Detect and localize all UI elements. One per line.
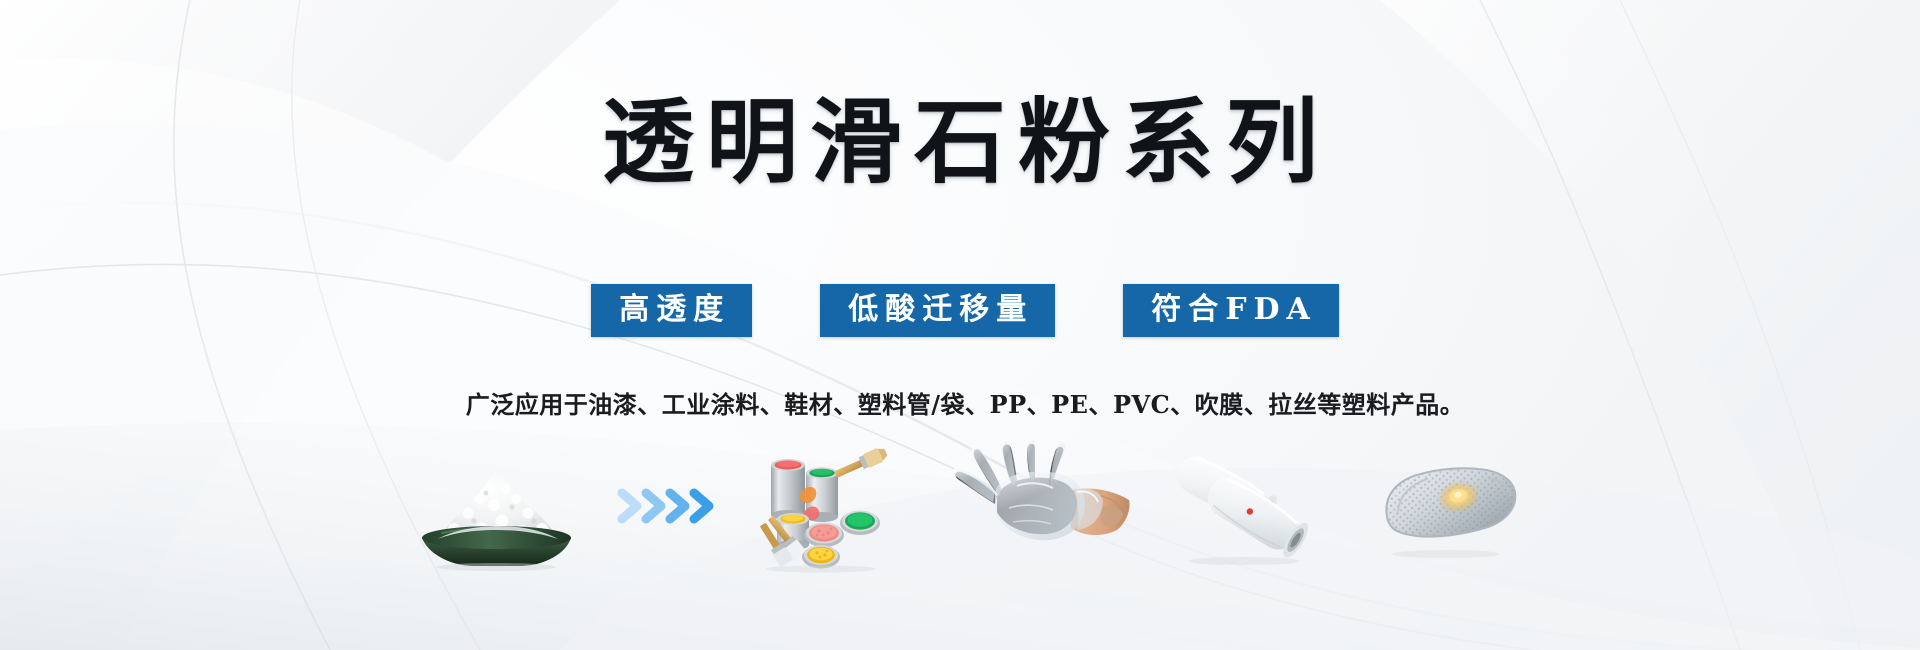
paint-cans-image — [749, 441, 899, 571]
feature-badge-fda-compliant[interactable]: 符合FDA — [1123, 284, 1339, 337]
banner-title: 透明滑石粉系列 — [0, 96, 1920, 190]
gloved-hand-image — [951, 441, 1136, 571]
talc-powder-bowl-image — [394, 441, 599, 571]
process-arrows-icon — [611, 441, 731, 571]
feature-badge-low-acid-migration[interactable]: 低酸迁移量 — [820, 284, 1055, 337]
banner-description: 广泛应用于油漆、工业涂料、鞋材、塑料管/袋、PP、PE、PVC、吹膜、拉丝等塑料… — [0, 385, 1920, 420]
product-banner: 透明滑石粉系列 高透度 低酸迁移量 符合FDA 广泛应用于油漆、工业涂料、鞋材、… — [0, 0, 1920, 650]
feature-badge-group: 高透度 低酸迁移量 符合FDA — [0, 284, 1920, 337]
feature-badge-high-transparency[interactable]: 高透度 — [591, 284, 752, 337]
plastic-film-rolls-image — [1164, 441, 1324, 571]
shoe-insole-image — [1362, 441, 1527, 571]
product-application-strip — [0, 438, 1920, 573]
